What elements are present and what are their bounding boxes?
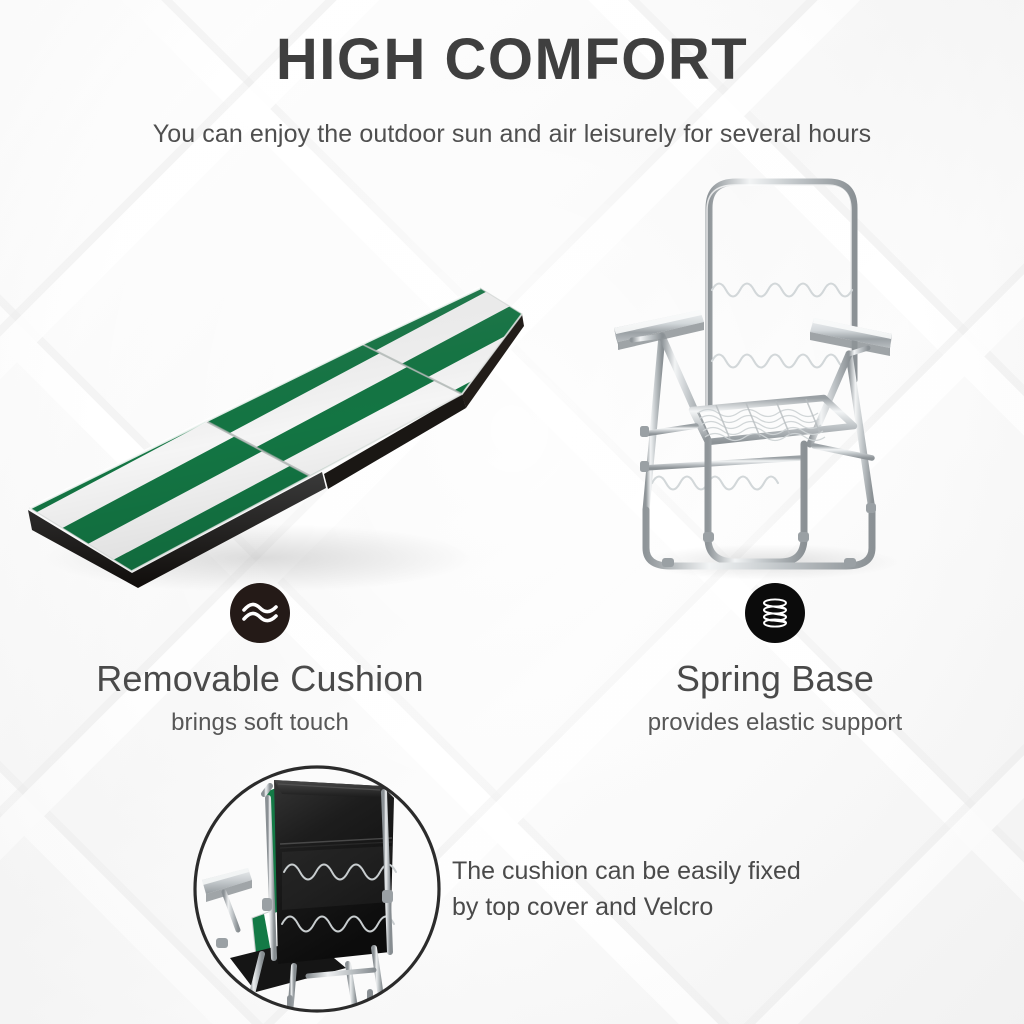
feature-spring-base: Spring Base provides elastic support <box>575 583 975 737</box>
page-subtitle: You can enjoy the outdoor sun and air le… <box>0 120 1024 149</box>
feature-title: Spring Base <box>575 659 975 699</box>
wave-lines-icon <box>230 583 290 643</box>
feature-removable-cushion: Removable Cushion brings soft touch <box>40 583 480 737</box>
page-title: HIGH COMFORT <box>0 30 1024 91</box>
inset-illustration <box>178 752 456 1024</box>
feature-subtitle: provides elastic support <box>575 709 975 737</box>
velcro-caption-line-1: The cushion can be easily fixed <box>452 854 852 890</box>
inset-photo-content <box>178 752 456 1024</box>
chair-seat-frame <box>692 398 854 442</box>
chair-illustration <box>596 158 941 583</box>
feature-subtitle: brings soft touch <box>40 709 480 737</box>
inset-top-cover <box>274 780 394 964</box>
feature-title: Removable Cushion <box>40 659 480 699</box>
cushion-illustration <box>10 258 530 603</box>
infographic-canvas: HIGH COMFORT You can enjoy the outdoor s… <box>0 0 1024 1024</box>
coil-spring-icon <box>745 583 805 643</box>
velcro-caption-line-2: by top cover and Velcro <box>452 890 852 926</box>
velcro-caption: The cushion can be easily fixed by top c… <box>452 854 852 925</box>
